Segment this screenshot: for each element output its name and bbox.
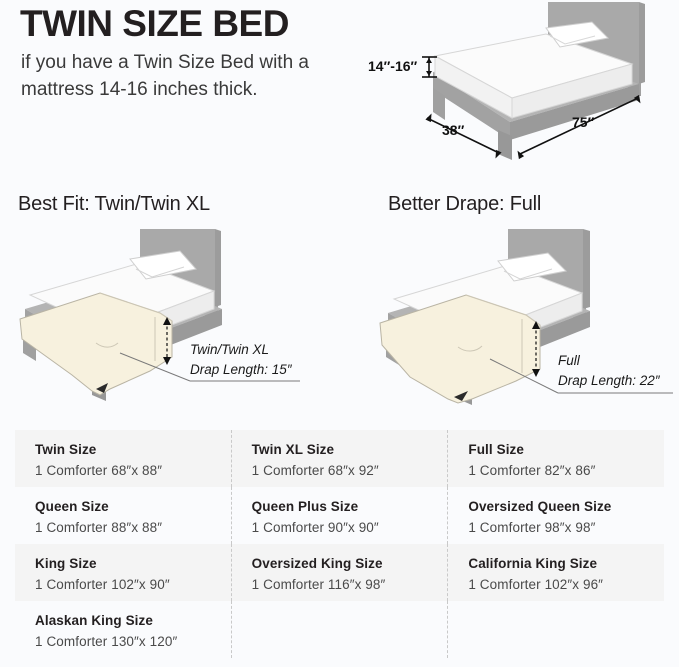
best-fit-callout: Twin/Twin XL Drap Length: 15″ (190, 340, 292, 379)
best-fit-bed-svg (0, 213, 340, 425)
size-dimensions: 1 Comforter 68″x 92″ (252, 462, 448, 480)
mattress-height-label: 14″-16″ (368, 58, 417, 74)
comparison-best-fit: Best Fit: Twin/Twin XL (0, 185, 340, 425)
headboard-side (583, 229, 590, 309)
size-dimensions: 1 Comforter 102″x 96″ (468, 576, 664, 594)
table-cell-queen-plus: Queen Plus Size 1 Comforter 90″x 90″ (231, 487, 448, 544)
table-cell-full: Full Size 1 Comforter 82″x 86″ (447, 430, 664, 487)
table-cell-california-king: California King Size 1 Comforter 102″x 9… (447, 544, 664, 601)
better-drape-bed-figure (340, 213, 679, 425)
table-cell-twin: Twin Size 1 Comforter 68″x 88″ (15, 430, 231, 487)
best-fit-bed-figure (0, 213, 340, 425)
hero-bed-svg (360, 0, 679, 180)
table-row: King Size 1 Comforter 102″x 90″ Oversize… (15, 544, 664, 601)
twin-size-bed-infographic: TWIN SIZE BED if you have a Twin Size Be… (0, 0, 679, 667)
size-dimensions: 1 Comforter 102″x 90″ (35, 576, 231, 594)
table-row: Twin Size 1 Comforter 68″x 88″ Twin XL S… (15, 430, 664, 487)
size-dimensions: 1 Comforter 130″x 120″ (35, 633, 231, 651)
size-name: California King Size (468, 555, 664, 573)
size-dimensions: 1 Comforter 98″x 98″ (468, 519, 664, 537)
size-dimensions: 1 Comforter 90″x 90″ (252, 519, 448, 537)
table-cell-queen: Queen Size 1 Comforter 88″x 88″ (15, 487, 231, 544)
size-name: Queen Plus Size (252, 498, 448, 516)
size-dimensions: 1 Comforter 88″x 88″ (35, 519, 231, 537)
size-name: Alaskan King Size (35, 612, 231, 630)
size-name: Twin XL Size (252, 441, 448, 459)
bed-length-label: 75″ (572, 114, 594, 130)
table-row: Queen Size 1 Comforter 88″x 88″ Queen Pl… (15, 487, 664, 544)
table-cell-empty (447, 601, 664, 658)
better-drape-callout-line1: Full (558, 351, 660, 371)
height-arrow-up (426, 58, 432, 63)
size-name: Oversized King Size (252, 555, 448, 573)
height-arrow-down (426, 71, 432, 76)
size-dimensions: 1 Comforter 116″x 98″ (252, 576, 448, 594)
table-cell-oversized-queen: Oversized Queen Size 1 Comforter 98″x 98… (447, 487, 664, 544)
headboard-side (639, 2, 645, 84)
hero-bed-diagram: 14″-16″ 38″ 75″ (360, 0, 679, 180)
size-name: Full Size (468, 441, 664, 459)
best-fit-callout-line2: Drap Length: 15″ (190, 360, 292, 380)
size-name: King Size (35, 555, 231, 573)
size-dimensions: 1 Comforter 68″x 88″ (35, 462, 231, 480)
table-cell-alaskan-king: Alaskan King Size 1 Comforter 130″x 120″ (15, 601, 231, 658)
size-name: Oversized Queen Size (468, 498, 664, 516)
better-drape-callout: Full Drap Length: 22″ (558, 351, 660, 390)
better-drape-callout-line2: Drap Length: 22″ (558, 371, 660, 391)
bed-width-label: 38″ (442, 122, 464, 138)
size-name: Twin Size (35, 441, 231, 459)
better-drape-bed-svg (340, 213, 679, 425)
table-row: Alaskan King Size 1 Comforter 130″x 120″ (15, 601, 664, 658)
page-title: TWIN SIZE BED (20, 4, 289, 45)
comforter-size-table: Twin Size 1 Comforter 68″x 88″ Twin XL S… (15, 430, 664, 658)
length-arrow-start (515, 149, 524, 159)
table-cell-oversized-king: Oversized King Size 1 Comforter 116″x 98… (231, 544, 448, 601)
size-name: Queen Size (35, 498, 231, 516)
table-cell-empty (231, 601, 448, 658)
table-cell-twin-xl: Twin XL Size 1 Comforter 68″x 92″ (231, 430, 448, 487)
best-fit-callout-line1: Twin/Twin XL (190, 340, 292, 360)
size-dimensions: 1 Comforter 82″x 86″ (468, 462, 664, 480)
page-subtitle: if you have a Twin Size Bed with a mattr… (21, 50, 331, 104)
comparison-better-drape: Better Drape: Full (340, 185, 679, 425)
drape-arrow-down (532, 369, 540, 377)
table-cell-king: King Size 1 Comforter 102″x 90″ (15, 544, 231, 601)
headboard-side (215, 229, 221, 307)
